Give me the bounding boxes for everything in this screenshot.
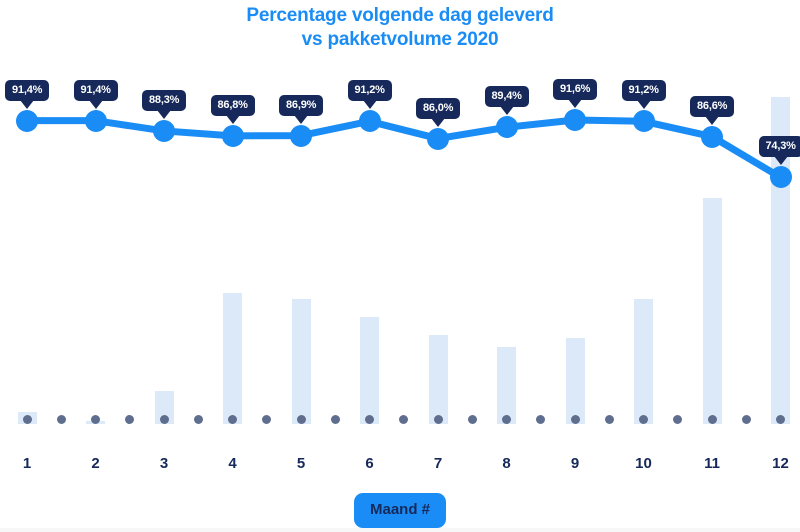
value-badge-10: 91,2% [622, 80, 666, 101]
line-marker-2[interactable] [85, 110, 107, 132]
axis-dot-minor-4 [331, 415, 340, 424]
axis-dot-minor-0 [57, 415, 66, 424]
axis-dot-11 [708, 415, 717, 424]
value-badge-7: 86,0% [416, 98, 460, 119]
line-marker-3[interactable] [153, 120, 175, 142]
value-badge-2: 91,4% [74, 80, 118, 101]
line-marker-8[interactable] [496, 116, 518, 138]
x-tick-1: 1 [7, 455, 47, 472]
axis-dot-2 [91, 415, 100, 424]
line-marker-6[interactable] [359, 110, 381, 132]
value-badge-5: 86,9% [279, 95, 323, 116]
x-tick-7: 7 [418, 455, 458, 472]
value-badge-6: 91,2% [348, 80, 392, 101]
x-tick-8: 8 [487, 455, 527, 472]
axis-dot-9 [571, 415, 580, 424]
axis-dot-7 [434, 415, 443, 424]
x-tick-4: 4 [213, 455, 253, 472]
value-badge-1: 91,4% [5, 80, 49, 101]
axis-dot-minor-8 [605, 415, 614, 424]
axis-dot-12 [776, 415, 785, 424]
x-tick-6: 6 [350, 455, 390, 472]
axis-dot-8 [502, 415, 511, 424]
line-marker-12[interactable] [770, 166, 792, 188]
x-tick-2: 2 [76, 455, 116, 472]
x-tick-11: 11 [692, 455, 732, 472]
chart-container: Percentage volgende dag geleverd vs pakk… [0, 0, 800, 532]
value-badge-3: 88,3% [142, 90, 186, 111]
axis-dot-6 [365, 415, 374, 424]
x-tick-10: 10 [624, 455, 664, 472]
line-path [27, 120, 781, 177]
line-marker-11[interactable] [701, 126, 723, 148]
value-badge-8: 89,4% [485, 86, 529, 107]
line-series-percentage [0, 0, 800, 425]
value-badge-4: 86,8% [211, 95, 255, 116]
value-badge-11: 86,6% [690, 96, 734, 117]
line-marker-9[interactable] [564, 109, 586, 131]
x-axis-label-button[interactable]: Maand # [354, 493, 446, 528]
bottom-strip [0, 528, 800, 532]
axis-dot-minor-2 [194, 415, 203, 424]
value-badge-12: 74,3% [759, 136, 800, 157]
x-tick-3: 3 [144, 455, 184, 472]
line-marker-10[interactable] [633, 110, 655, 132]
line-marker-5[interactable] [290, 125, 312, 147]
axis-dot-10 [639, 415, 648, 424]
line-marker-4[interactable] [222, 125, 244, 147]
line-marker-1[interactable] [16, 110, 38, 132]
axis-dot-4 [228, 415, 237, 424]
plot-area: 91,4%91,4%88,3%86,8%86,9%91,2%86,0%89,4%… [0, 0, 800, 425]
x-tick-9: 9 [555, 455, 595, 472]
x-tick-5: 5 [281, 455, 321, 472]
axis-dot-3 [160, 415, 169, 424]
value-badge-9: 91,6% [553, 79, 597, 100]
axis-dot-minor-6 [468, 415, 477, 424]
axis-dot-1 [23, 415, 32, 424]
axis-dot-5 [297, 415, 306, 424]
axis-dot-minor-10 [742, 415, 751, 424]
line-marker-7[interactable] [427, 128, 449, 150]
x-tick-12: 12 [761, 455, 800, 472]
